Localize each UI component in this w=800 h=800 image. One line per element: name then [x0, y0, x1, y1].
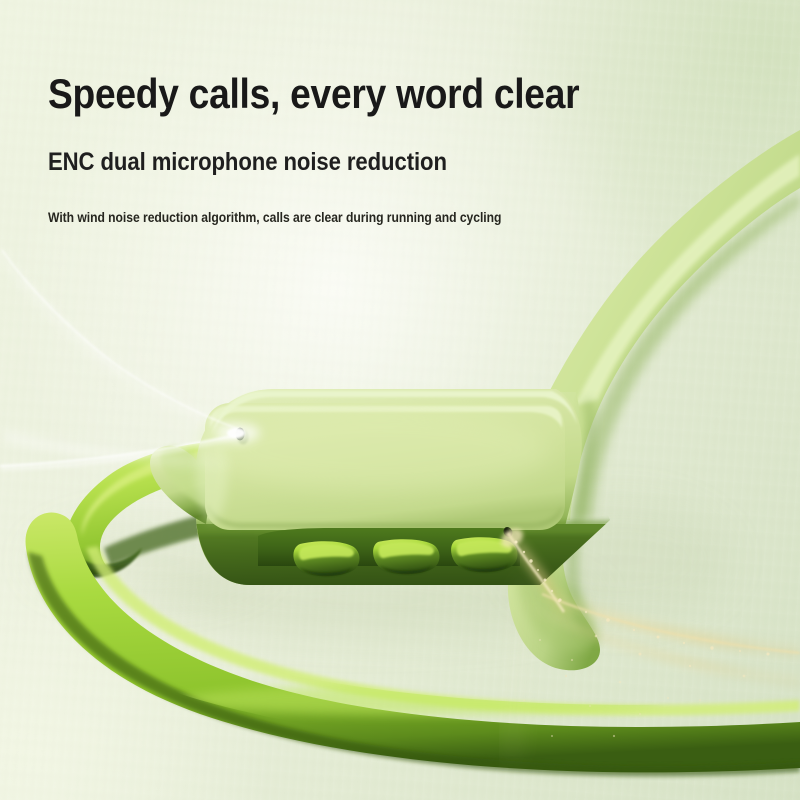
product-marketing-poster: Speedy calls, every word clear ENC dual …	[0, 0, 800, 800]
button-volume-down[interactable]	[293, 541, 359, 576]
subheading: ENC dual microphone noise reduction	[48, 146, 597, 178]
airflow-light-streak-upper	[0, 250, 238, 430]
button-multifunction[interactable]	[373, 539, 439, 574]
touch-panel-inset	[205, 403, 565, 530]
page-title: Speedy calls, every word clear	[48, 68, 597, 120]
body-description: With wind noise reduction algorithm, cal…	[48, 208, 606, 227]
earphone-body	[150, 389, 620, 600]
copy-block: Speedy calls, every word clear ENC dual …	[48, 68, 668, 227]
